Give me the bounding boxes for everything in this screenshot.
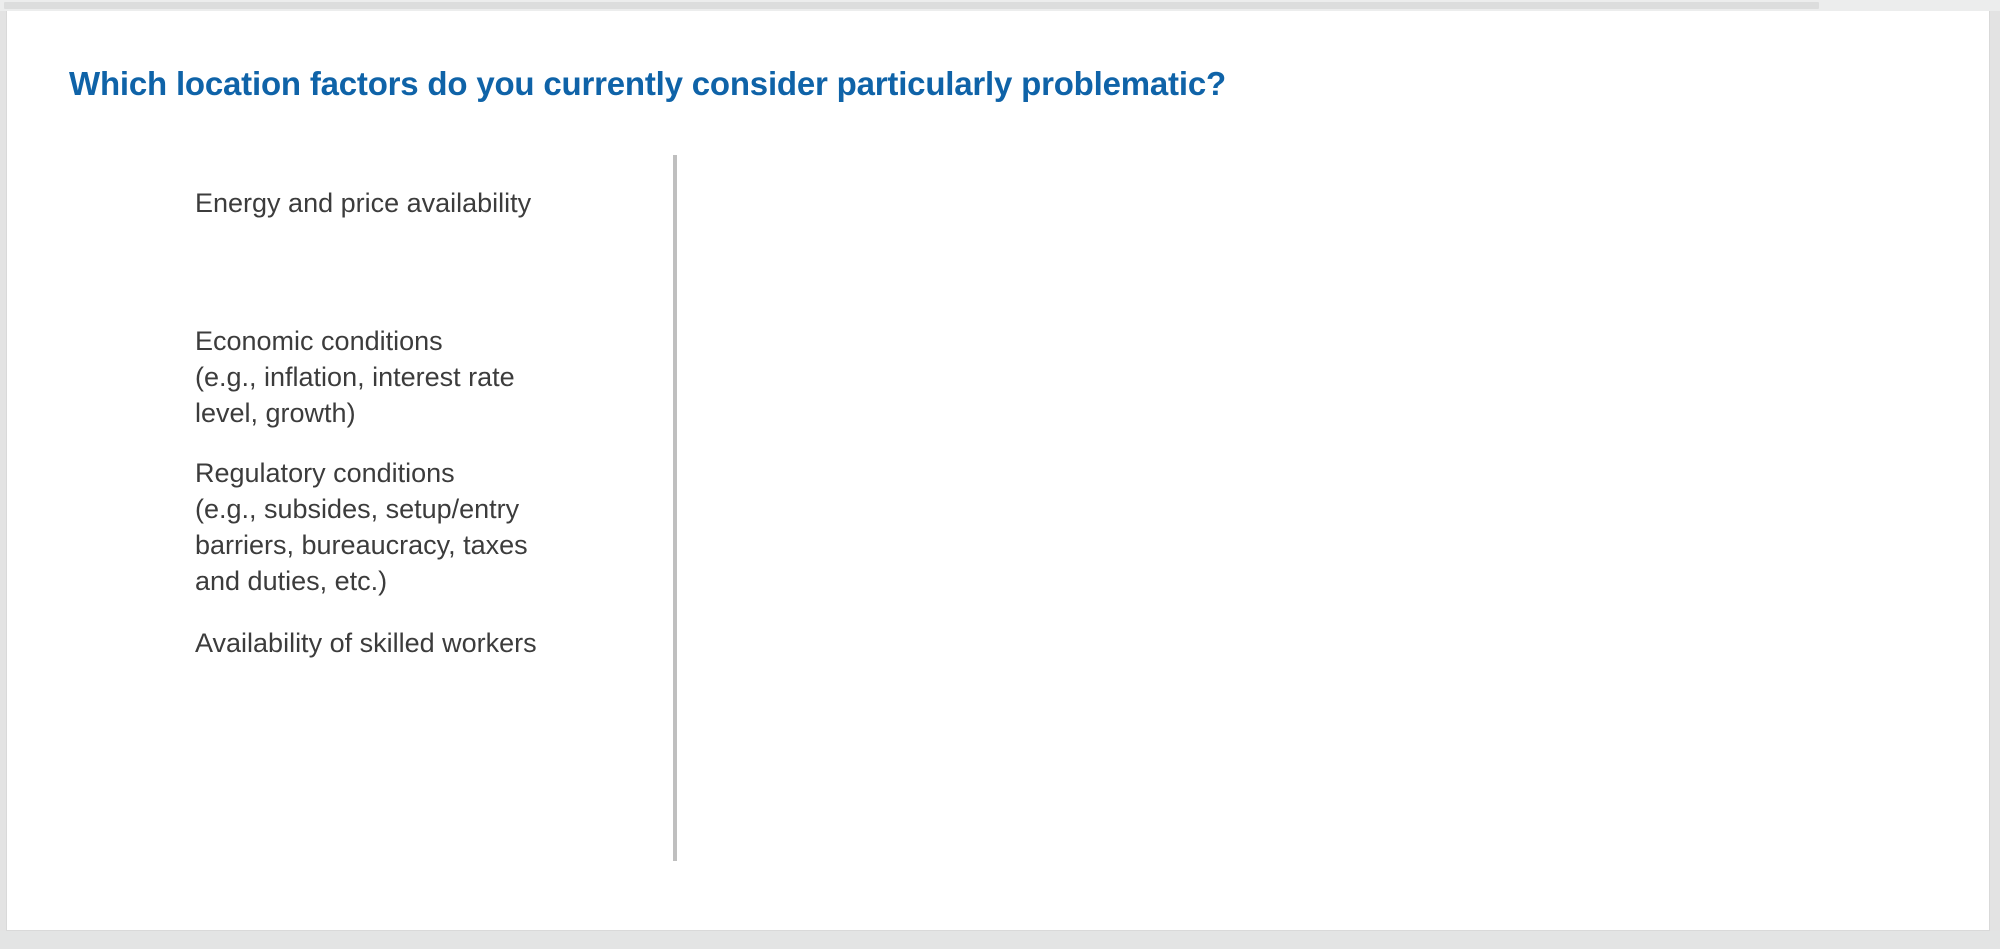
category-label-economic-conditions: Economic conditions (e.g., inflation, in… [195,323,665,431]
bottom-bar [0,931,2000,949]
category-axis-labels: Energy and price availability Economic c… [195,155,665,861]
scrollbar-thumb[interactable] [4,2,1819,9]
category-label-availability-of-skilled-workers: Availability of skilled workers [195,625,665,661]
horizontal-scrollbar-top[interactable] [0,0,2000,11]
category-label-energy-and-price-availability: Energy and price availability [195,185,665,221]
bars-region [677,155,1977,861]
window-viewport: Which location factors do you currently … [0,0,2000,949]
slide-canvas: Which location factors do you currently … [6,11,1990,931]
chart-plot-area: Energy and price availability Economic c… [7,11,1990,931]
category-label-regulatory-conditions: Regulatory conditions (e.g., subsides, s… [195,455,665,599]
